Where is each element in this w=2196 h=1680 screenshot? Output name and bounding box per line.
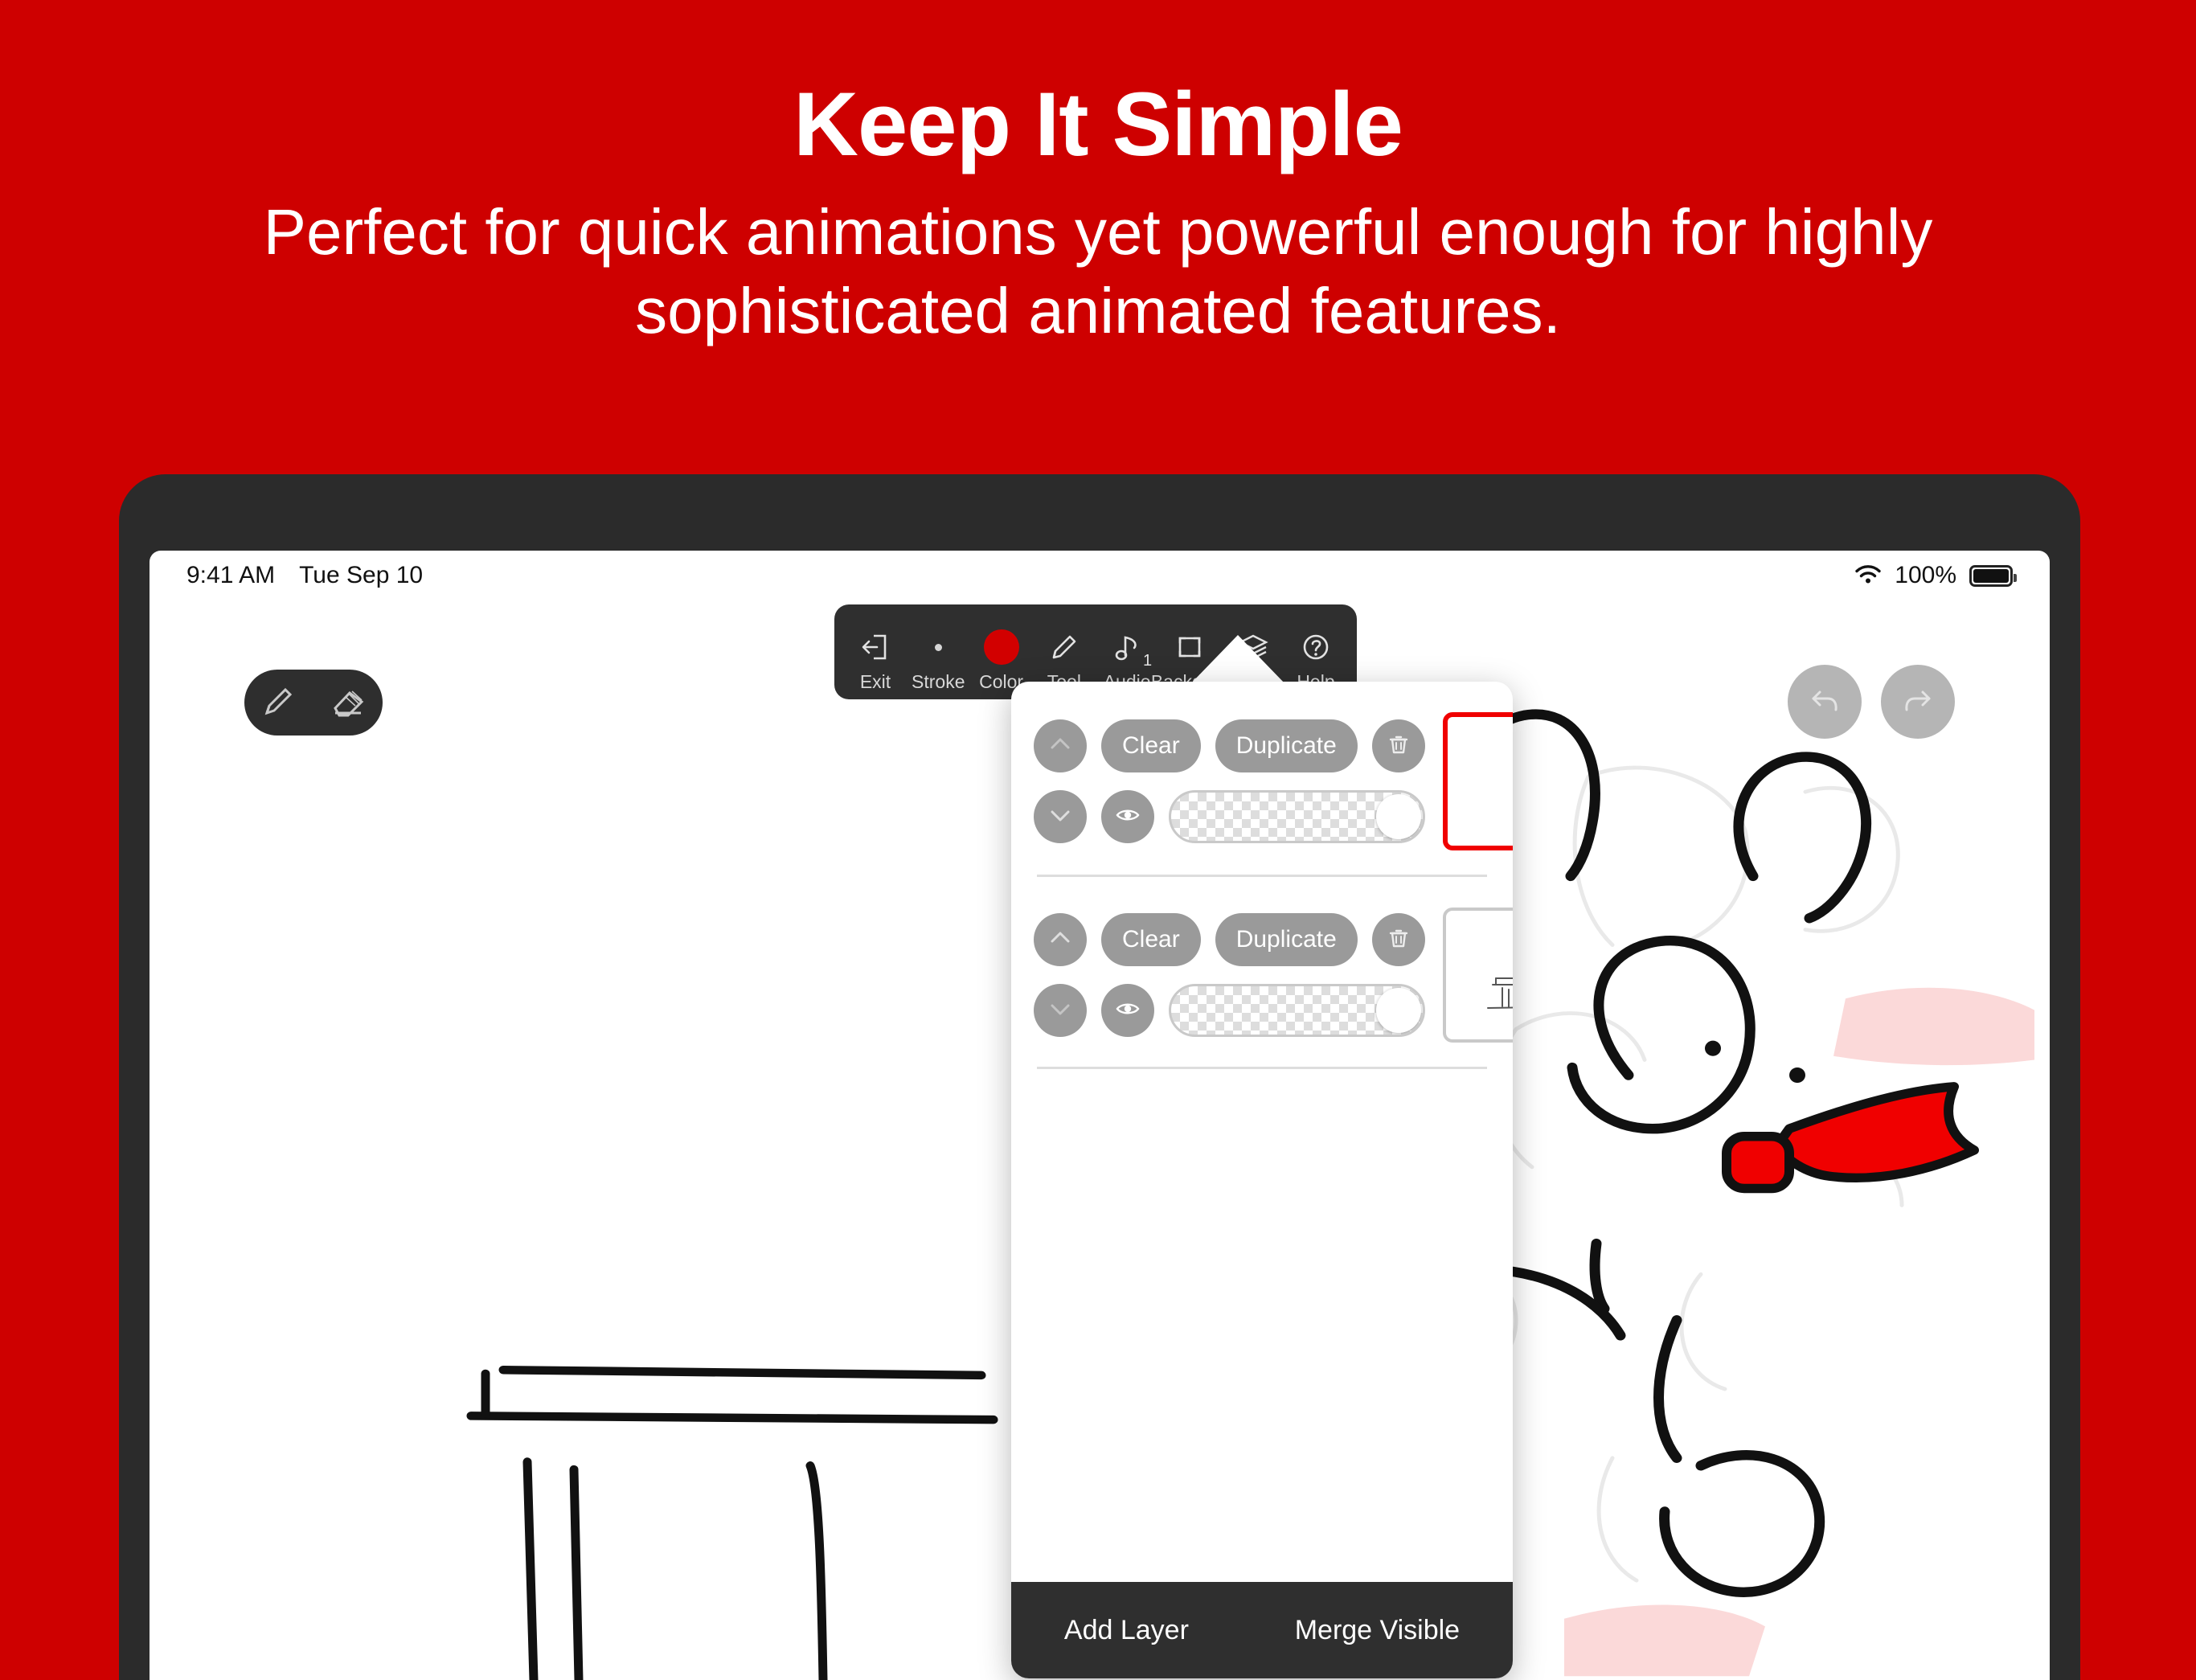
page-title: Keep It Simple [0, 77, 2196, 172]
layer-controls-top: Clear Duplicate [1034, 719, 1425, 772]
layer-divider [1037, 1067, 1487, 1069]
status-bar-right: 100% [1854, 562, 2013, 589]
eye-icon [1114, 995, 1141, 1026]
popover-arrow [1190, 635, 1286, 685]
layer-row[interactable]: Clear Duplicate [1034, 682, 1490, 875]
color-swatch-icon [984, 626, 1019, 668]
layer-row[interactable]: Clear Duplicate [1034, 877, 1490, 1067]
toolbar-label-stroke: Stroke [912, 673, 965, 691]
layer-visibility-button[interactable] [1101, 984, 1154, 1037]
page-subtitle: Perfect for quick animations yet powerfu… [104, 193, 2092, 350]
chevron-up-icon [1047, 731, 1074, 762]
layer-delete-button[interactable] [1372, 719, 1425, 772]
pencil-icon [1047, 626, 1082, 668]
toolbar-label-exit: Exit [860, 673, 891, 691]
eraser-icon[interactable] [328, 681, 368, 725]
layer-duplicate-button[interactable]: Duplicate [1215, 913, 1358, 966]
layer-move-down-button[interactable] [1034, 984, 1087, 1037]
layer-clear-button[interactable]: Clear [1101, 719, 1201, 772]
history-buttons [1788, 665, 1955, 739]
redo-button[interactable] [1881, 665, 1955, 739]
stroke-dot-icon [935, 626, 942, 668]
status-bar-time: 9:41 AM [186, 562, 275, 589]
layer-thumbnail[interactable] [1443, 908, 1513, 1043]
pencil-icon[interactable] [259, 681, 299, 725]
layers-list: Clear Duplicate [1011, 682, 1513, 1582]
layer-thumbnail-selected[interactable] [1443, 712, 1513, 850]
undo-arrow-icon [1805, 681, 1844, 723]
layer-controls-bottom [1034, 984, 1425, 1037]
toolbar-item-color[interactable]: Color [972, 626, 1031, 691]
merge-visible-button[interactable]: Merge Visible [1295, 1615, 1460, 1646]
red-cape-shape [1727, 1087, 1974, 1189]
audio-count-badge: 1 [1143, 652, 1152, 670]
toolbar-item-exit[interactable]: Exit [846, 626, 905, 691]
undo-button[interactable] [1788, 665, 1862, 739]
table-sketch-thumbnail [1446, 911, 1513, 1039]
layer-controls-bottom [1034, 790, 1425, 843]
status-bar-date: Tue Sep 10 [299, 562, 423, 589]
battery-full-icon [1969, 565, 2013, 587]
eye-icon [1114, 801, 1141, 833]
layer-duplicate-button[interactable]: Duplicate [1215, 719, 1358, 772]
trash-icon [1385, 731, 1412, 762]
redo-arrow-icon [1899, 681, 1937, 723]
layer-controls: Clear Duplicate [1034, 913, 1425, 1037]
question-mark-icon [1298, 626, 1334, 668]
opacity-slider-knob[interactable] [1376, 988, 1421, 1033]
layer-opacity-slider[interactable] [1169, 790, 1425, 843]
battery-percent-label: 100% [1895, 562, 1956, 589]
status-bar: 9:41 AM Tue Sep 10 100% [150, 551, 2050, 600]
exit-door-icon [858, 626, 893, 668]
layer-delete-button[interactable] [1372, 913, 1425, 966]
wifi-icon [1854, 565, 1882, 586]
table-line-art [471, 1370, 994, 1680]
layer-move-up-button[interactable] [1034, 913, 1087, 966]
add-layer-button[interactable]: Add Layer [1064, 1615, 1189, 1646]
layer-move-down-button[interactable] [1034, 790, 1087, 843]
layers-popover: Clear Duplicate [1011, 682, 1513, 1678]
layer-clear-button[interactable]: Clear [1101, 913, 1201, 966]
chevron-up-icon [1047, 924, 1074, 956]
rabbit-character-thumbnail [1448, 717, 1513, 846]
layers-popover-footer: Add Layer Merge Visible [1011, 1582, 1513, 1678]
chevron-down-icon [1047, 801, 1074, 833]
opacity-slider-knob[interactable] [1376, 794, 1421, 839]
layer-visibility-button[interactable] [1101, 790, 1154, 843]
layer-controls-top: Clear Duplicate [1034, 913, 1425, 966]
screenshot-stage: Keep It Simple Perfect for quick animati… [0, 0, 2196, 1646]
layer-move-up-button[interactable] [1034, 719, 1087, 772]
layer-controls: Clear Duplicate [1034, 719, 1425, 843]
pencil-eraser-toggle[interactable] [244, 670, 383, 736]
layer-opacity-slider[interactable] [1169, 984, 1425, 1037]
status-bar-left: 9:41 AM Tue Sep 10 [186, 562, 423, 589]
trash-icon [1385, 924, 1412, 956]
music-note-icon [1109, 626, 1145, 668]
toolbar-item-stroke[interactable]: Stroke [908, 626, 968, 691]
chevron-down-icon [1047, 995, 1074, 1026]
